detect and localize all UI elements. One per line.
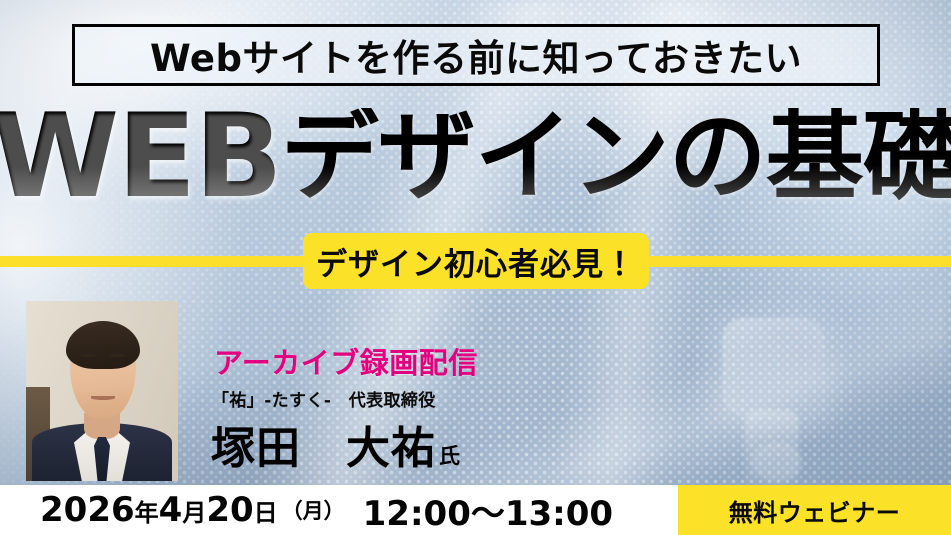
free-webinar-area: 無料ウェビナー	[678, 485, 951, 535]
headline-english: WEB	[0, 99, 281, 215]
schedule-year-unit: 年	[135, 493, 159, 528]
portrait-mouth	[91, 396, 115, 400]
portrait-eye-right	[111, 361, 124, 365]
schedule-date-area: 2026 年 4 月 20 日 （月） 12:00〜13:00	[0, 485, 678, 535]
portrait-eyebrow-left	[81, 354, 97, 357]
schedule-day: 20	[206, 490, 253, 530]
schedule-day-of-week: （月）	[282, 495, 345, 525]
schedule-month-unit: 月	[182, 493, 206, 528]
schedule-bar: 2026 年 4 月 20 日 （月） 12:00〜13:00 無料ウェビナー	[0, 485, 951, 535]
schedule-month: 4	[159, 490, 183, 530]
badge-label: デザイン初心者必見！	[316, 239, 636, 284]
speaker-name-block: 塚田 大祐 氏	[211, 412, 460, 476]
speaker-name: 塚田 大祐	[211, 412, 436, 476]
speaker-role: 「祐」-たすく- 代表取締役	[212, 386, 436, 411]
subtitle-box: Webサイトを作る前に知っておきたい	[72, 24, 880, 86]
webinar-banner: Webサイトを作る前に知っておきたい WEB デザインの基礎 デザイン初心者必見…	[0, 0, 951, 535]
avatar	[26, 301, 178, 481]
schedule-time: 12:00〜13:00	[363, 486, 613, 535]
status-badge: デザイン初心者必見！	[303, 233, 649, 289]
portrait-eye-left	[83, 361, 96, 365]
archive-delivery-label: アーカイブ録画配信	[214, 340, 478, 382]
speaker-honorific: 氏	[439, 440, 460, 470]
portrait-eyebrow-right	[109, 354, 125, 357]
page-title: WEB デザインの基礎	[0, 92, 951, 222]
headline-japanese: デザインの基礎	[281, 108, 951, 206]
free-webinar-label: 無料ウェビナー	[729, 493, 901, 528]
subtitle-text: Webサイトを作る前に知っておきたい	[150, 28, 802, 82]
schedule-day-unit: 日	[254, 493, 278, 528]
schedule-year: 2026	[40, 490, 135, 530]
